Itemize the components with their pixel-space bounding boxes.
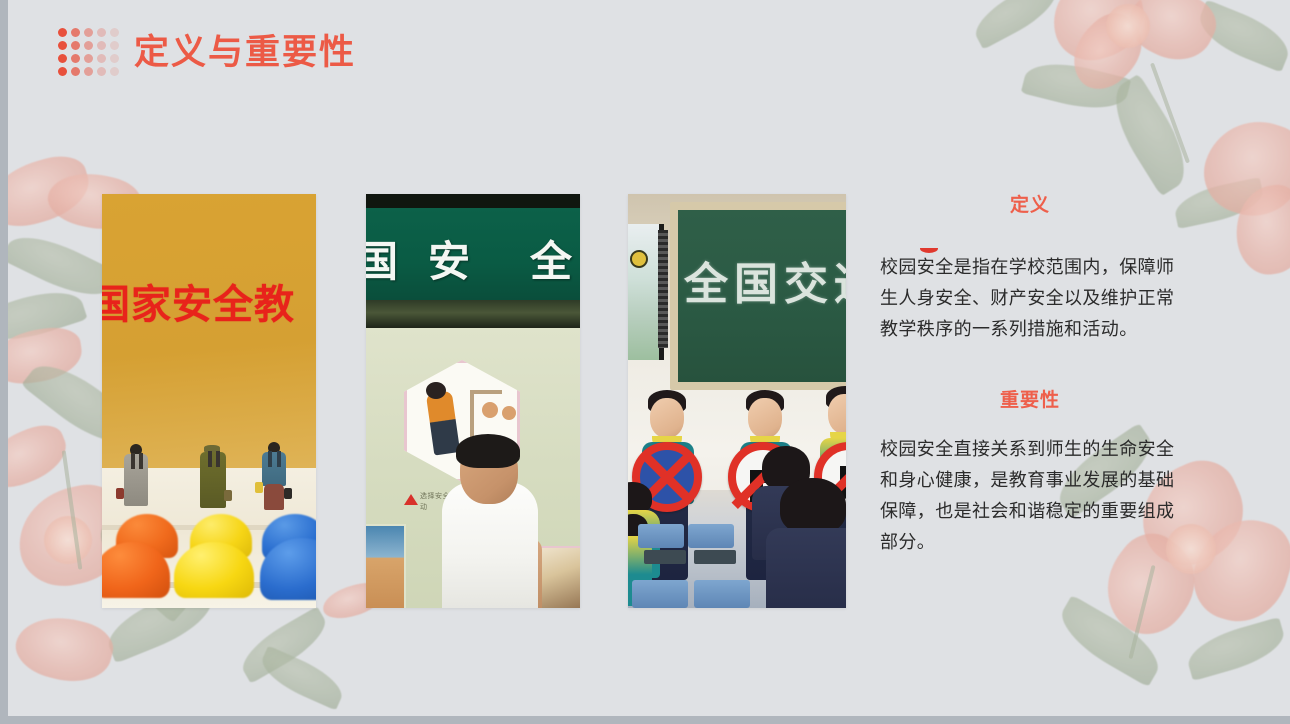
text-column: 定义 校园安全是指在学校范围内，保障师生人身安全、财产安全以及维护正常教学秩序的…	[880, 190, 1180, 558]
slide-edge-left	[0, 0, 8, 724]
photo-3-display-sign-icon	[630, 250, 648, 268]
section-importance-body: 校园安全直接关系到师生的生命安全和身心健康，是教育事业发展的基础保障，也是社会和…	[880, 434, 1180, 558]
section-definition-heading: 定义	[880, 190, 1180, 217]
photo-2-sign-char-2: 安	[428, 228, 470, 289]
photo-2-sign-char-1: 国	[366, 228, 398, 289]
photo-safety-sign-board-outdoors: 选择安全的活动，不做危险的活动 国 安 全	[366, 194, 580, 608]
photo-3-desk-4	[694, 580, 750, 608]
section-importance-heading: 重要性	[880, 385, 1180, 412]
photo-2-illustration-child-head	[426, 382, 446, 399]
photo-2-triangle-marker-left-icon	[404, 494, 418, 505]
slide-edge-bottom	[0, 716, 1290, 724]
photo-2-mini-poster-left	[366, 524, 406, 608]
dot-grid-decoration-icon	[58, 28, 123, 80]
photo-1-banner-text: 国家安全教	[102, 272, 316, 330]
section-importance: 重要性 校园安全直接关系到师生的生命安全和身心健康，是教育事业发展的基础保障，也…	[880, 385, 1180, 558]
photo-2-man-hair	[456, 434, 520, 468]
photo-2-sign-char-3: 全	[530, 228, 572, 289]
photo-3-wall-panel	[658, 230, 668, 348]
photo-2-illustration-face-2	[502, 406, 516, 420]
photo-3-desk-shelf-2	[694, 550, 736, 564]
photo-2-top-shadow	[366, 194, 580, 208]
slide-header: 定义与重要性	[0, 0, 1290, 110]
photo-2-green-sign: 国 安 全	[366, 208, 580, 300]
photo-3-desk-2	[688, 524, 734, 548]
photo-3-desk-1	[638, 524, 684, 548]
page-title: 定义与重要性	[134, 31, 356, 75]
quote-mark-icon	[920, 244, 938, 253]
photo-national-security-education-figurines: 国家安全教	[102, 194, 316, 608]
photo-3-desk-shelf-1	[644, 550, 686, 564]
slide-canvas: 定义与重要性 国家安全教	[0, 0, 1290, 724]
photo-2-tree-foliage	[366, 300, 580, 328]
section-definition: 定义 校园安全是指在学校范围内，保障师生人身安全、财产安全以及维护正常教学秩序的…	[880, 190, 1180, 345]
photo-3-desk-3	[632, 580, 688, 608]
photo-classroom-traffic-safety-lesson: 全国交通	[628, 194, 846, 608]
photo-3-chalkboard-text: 全国交通	[684, 248, 846, 312]
photo-2-illustration-face-1	[482, 402, 498, 418]
section-definition-body: 校园安全是指在学校范围内，保障师生人身安全、财产安全以及维护正常教学秩序的一系列…	[880, 252, 1180, 345]
